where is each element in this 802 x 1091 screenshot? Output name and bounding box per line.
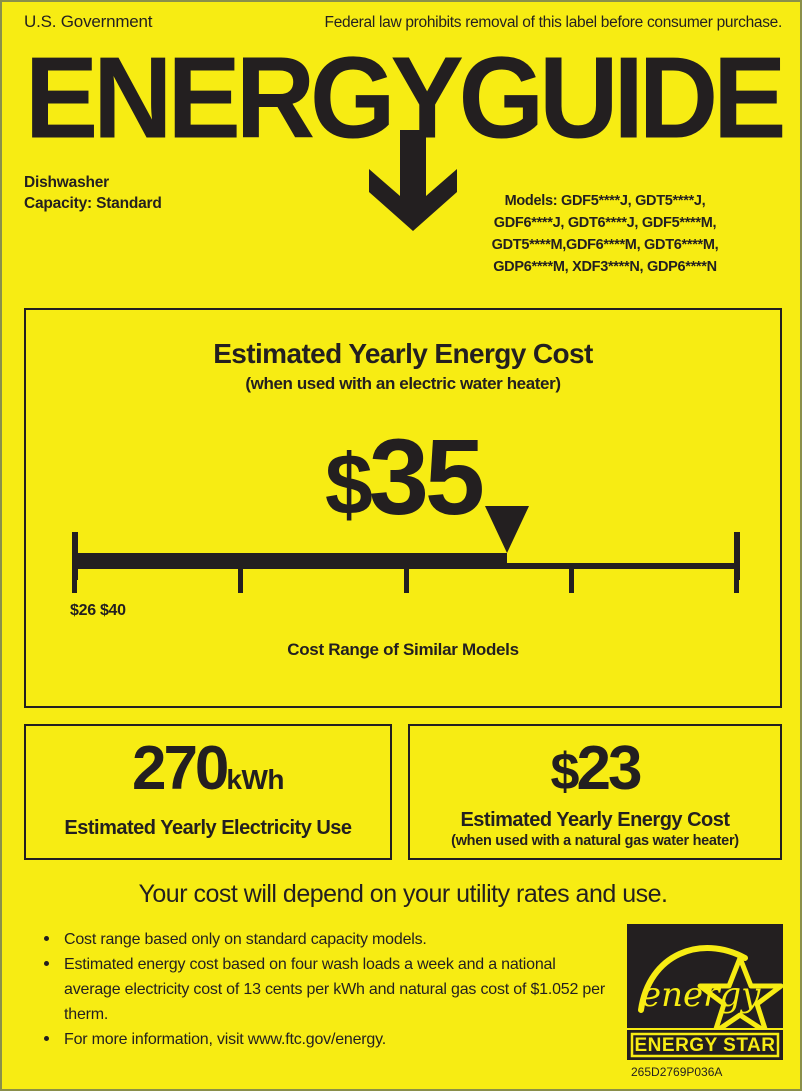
gas-cost-caption: Estimated Yearly Energy Cost <box>410 809 780 832</box>
agency-label: U.S. Government <box>24 12 152 32</box>
main-box-title: Estimated Yearly Energy Cost <box>26 338 780 370</box>
cost-range-caption: Cost Range of Similar Models <box>26 640 780 660</box>
model-line: GDT5****M,GDF6****M, GDT6****M, <box>440 234 770 256</box>
model-numbers: Models: GDF5****J, GDT5****J, GDF6****J,… <box>440 190 770 278</box>
bullet-dot-icon <box>44 1036 49 1041</box>
electricity-caption: Estimated Yearly Electricity Use <box>26 817 390 840</box>
scale-tick <box>72 569 77 593</box>
energyguide-label: U.S. Government Federal law prohibits re… <box>0 0 802 1091</box>
bullet-item: Estimated energy cost based on four wash… <box>42 952 612 1027</box>
estimated-yearly-energy-cost-box: Estimated Yearly Energy Cost (when used … <box>24 308 782 708</box>
model-line: GDF6****J, GDT6****J, GDF5****M, <box>440 212 770 234</box>
scale-tick <box>404 569 409 593</box>
bullet-dot-icon <box>44 936 49 941</box>
gas-cost-subcaption: (when used with a natural gas water heat… <box>410 833 780 849</box>
appliance-capacity: Capacity: Standard <box>24 193 162 214</box>
scale-axis-line <box>507 563 738 569</box>
model-line: Models: GDF5****J, GDT5****J, <box>440 190 770 212</box>
cost-range-endpoints: $26 $40 <box>70 602 126 620</box>
estimated-yearly-electricity-use-box: 270kWh Estimated Yearly Electricity Use <box>24 724 392 860</box>
header-row: U.S. Government Federal law prohibits re… <box>24 12 782 32</box>
scale-tick <box>569 569 574 593</box>
part-number: 265D2769P036A <box>631 1065 722 1079</box>
gas-currency-symbol: $ <box>551 743 577 801</box>
energy-star-logo: energy ENERGY STAR <box>627 924 783 1060</box>
cost-number: 35 <box>369 416 481 537</box>
energy-script-text: energy <box>641 975 761 1015</box>
energy-star-bar-text: ENERGY STAR <box>635 1035 776 1056</box>
gas-cost-value: 23 <box>576 734 639 803</box>
product-info: Dishwasher Capacity: Standard <box>24 172 162 214</box>
appliance-type: Dishwasher <box>24 172 162 193</box>
footer-bullets: Cost range based only on standard capaci… <box>42 927 612 1052</box>
electricity-value: 270 <box>132 734 226 803</box>
model-line: GDP6****M, XDF3****N, GDP6****N <box>440 256 770 278</box>
gas-cost-value-row: $23 <box>410 734 780 807</box>
electricity-unit: kWh <box>226 764 284 795</box>
bullet-item: For more information, visit www.ftc.gov/… <box>42 1027 612 1052</box>
scale-tick <box>238 569 243 593</box>
main-box-subtitle: (when used with an electric water heater… <box>26 374 780 394</box>
footer-headline: Your cost will depend on your utility ra… <box>2 880 802 909</box>
legal-notice: Federal law prohibits removal of this la… <box>325 14 782 32</box>
bullet-text: Estimated energy cost based on four wash… <box>64 956 605 1023</box>
bullet-dot-icon <box>44 961 49 966</box>
estimated-yearly-gas-cost-box: $23 Estimated Yearly Energy Cost (when u… <box>408 724 782 860</box>
scale-tick <box>734 569 739 593</box>
bullet-item: Cost range based only on standard capaci… <box>42 927 612 952</box>
bullet-text: Cost range based only on standard capaci… <box>64 931 427 948</box>
bullet-text: For more information, visit www.ftc.gov/… <box>64 1031 386 1048</box>
electricity-value-row: 270kWh <box>26 734 390 815</box>
currency-symbol: $ <box>325 437 369 533</box>
primary-cost-value: $35 <box>26 422 780 540</box>
scale-filled-bar <box>72 553 507 569</box>
